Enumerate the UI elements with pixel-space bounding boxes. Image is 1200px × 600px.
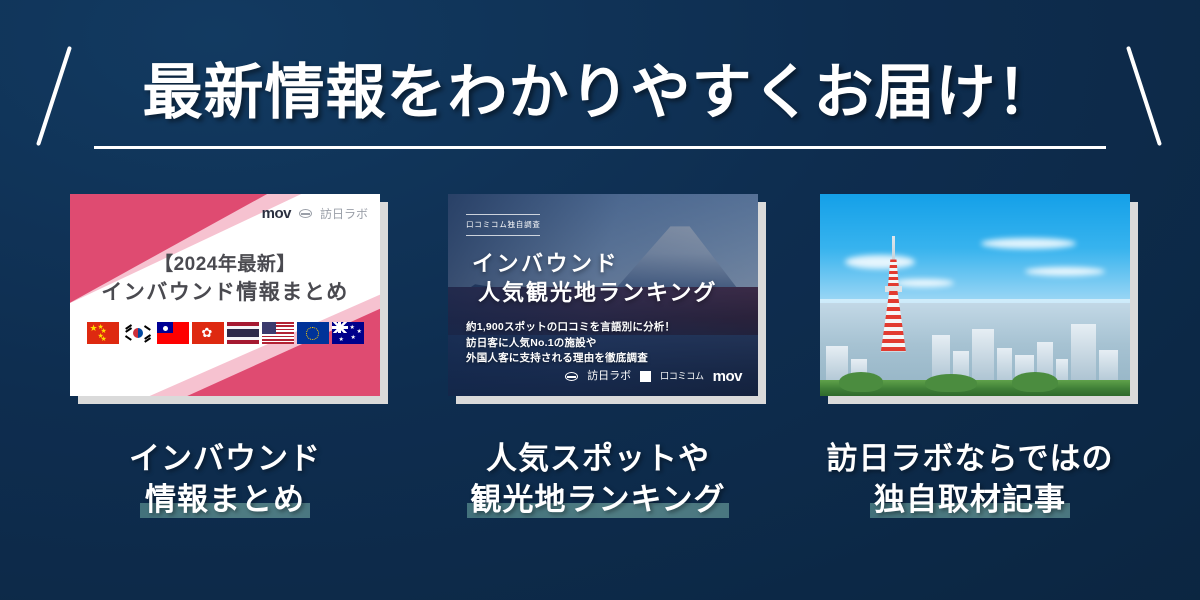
headline-divider [94, 146, 1106, 149]
card1-title-line2: インバウンド情報まとめ [70, 278, 380, 308]
caption-1: インバウンド 情報まとめ [45, 438, 405, 520]
houjitsulabo-logo: 訪日ラボ [587, 371, 631, 382]
caption-2-line2: 観光地ランキング [418, 479, 778, 520]
caption-3-line2: 独自取材記事 [790, 479, 1150, 520]
caption-3-line1: 訪日ラボならではの [790, 438, 1150, 479]
card-inbound-summary[interactable]: mov 訪日ラボ 【2024年最新】 インバウンド情報まとめ ★ ★ ★ ★ ★ [70, 194, 380, 396]
caption-1-line2-text: 情報まとめ [145, 482, 305, 517]
card1-title: 【2024年最新】 インバウンド情報まとめ [70, 252, 380, 308]
kuchikomicom-mark-icon [640, 371, 651, 382]
flag-thailand-icon [227, 322, 259, 344]
card2-body: 約1,900スポットの口コミを言語別に分析！ 訪日客に人気No.1の施設や 外国… [466, 320, 740, 367]
card2-body-line2: 訪日客に人気No.1の施設や [466, 336, 740, 352]
card2-title-line1: インバウンド [466, 249, 740, 278]
kuchikomicom-logo: 口コミコム [660, 372, 704, 381]
card2-body-line3: 外国人客に支持される理由を徹底調査 [466, 351, 740, 367]
caption-2-line2-text: 観光地ランキング [470, 482, 725, 517]
flag-china-icon: ★ ★ ★ ★ ★ [87, 322, 119, 344]
card1-title-line1: 【2024年最新】 [70, 252, 380, 278]
caption-2-line1: 人気スポットや [418, 438, 778, 479]
slide-root: 最新情報をわかりやすくお届け！ mov 訪日ラボ 【2024年最新】 インバウン… [0, 0, 1200, 600]
card2-eyebrow-text: 口コミコム独自調査 [466, 215, 540, 235]
card-face [820, 194, 1130, 396]
flag-australia-icon: ★ ★ ★ ★ [332, 322, 364, 344]
caption-3-line2-text: 独自取材記事 [874, 482, 1066, 517]
tokyo-tower-icon [879, 236, 909, 351]
page-title: 最新情報をわかりやすくお届け！ [0, 34, 1200, 152]
headline-block: 最新情報をわかりやすくお届け！ [0, 34, 1200, 154]
caption-1-line2: 情報まとめ [45, 479, 405, 520]
tokyo-tower-photo [820, 194, 1130, 396]
card-face: 口コミコム独自調査 インバウンド 人気観光地ランキング 約1,900スポットの口… [448, 194, 758, 396]
caption-1-line1: インバウンド [45, 438, 405, 479]
caption-row: インバウンド 情報まとめ 人気スポットや 観光地ランキング 訪日ラボならではの … [0, 438, 1200, 538]
flag-hong-kong-icon: ✿ [192, 322, 224, 344]
flag-south-korea-icon [122, 322, 154, 344]
houjitsulabo-logo: 訪日ラボ [320, 208, 368, 220]
card-face: mov 訪日ラボ 【2024年最新】 インバウンド情報まとめ ★ ★ ★ ★ ★ [70, 194, 380, 396]
houjitsulabo-mark-icon [299, 209, 312, 218]
mov-logo: mov [713, 369, 742, 384]
card1-logo-row: mov 訪日ラボ [262, 206, 368, 221]
card2-body-line1: 約1,900スポットの口コミを言語別に分析！ [466, 320, 740, 336]
card-ranking-report[interactable]: 口コミコム独自調査 インバウンド 人気観光地ランキング 約1,900スポットの口… [448, 194, 758, 396]
card-original-article[interactable] [820, 194, 1130, 396]
flag-taiwan-icon [157, 322, 189, 344]
card-row: mov 訪日ラボ 【2024年最新】 インバウンド情報まとめ ★ ★ ★ ★ ★ [0, 186, 1200, 416]
flag-united-states-icon [262, 322, 294, 344]
flag-european-union-icon [297, 322, 329, 344]
flag-strip: ★ ★ ★ ★ ★ [70, 322, 380, 344]
mov-logo: mov [262, 206, 291, 221]
caption-3: 訪日ラボならではの 独自取材記事 [790, 438, 1150, 520]
card2-title: インバウンド 人気観光地ランキング [466, 249, 740, 308]
card2-eyebrow: 口コミコム独自調査 [466, 214, 540, 236]
card2-title-line2: 人気観光地ランキング [466, 278, 740, 308]
card2-logo-row: 訪日ラボ 口コミコム mov [565, 369, 742, 384]
houjitsulabo-mark-icon [565, 372, 578, 381]
caption-2: 人気スポットや 観光地ランキング [418, 438, 778, 520]
